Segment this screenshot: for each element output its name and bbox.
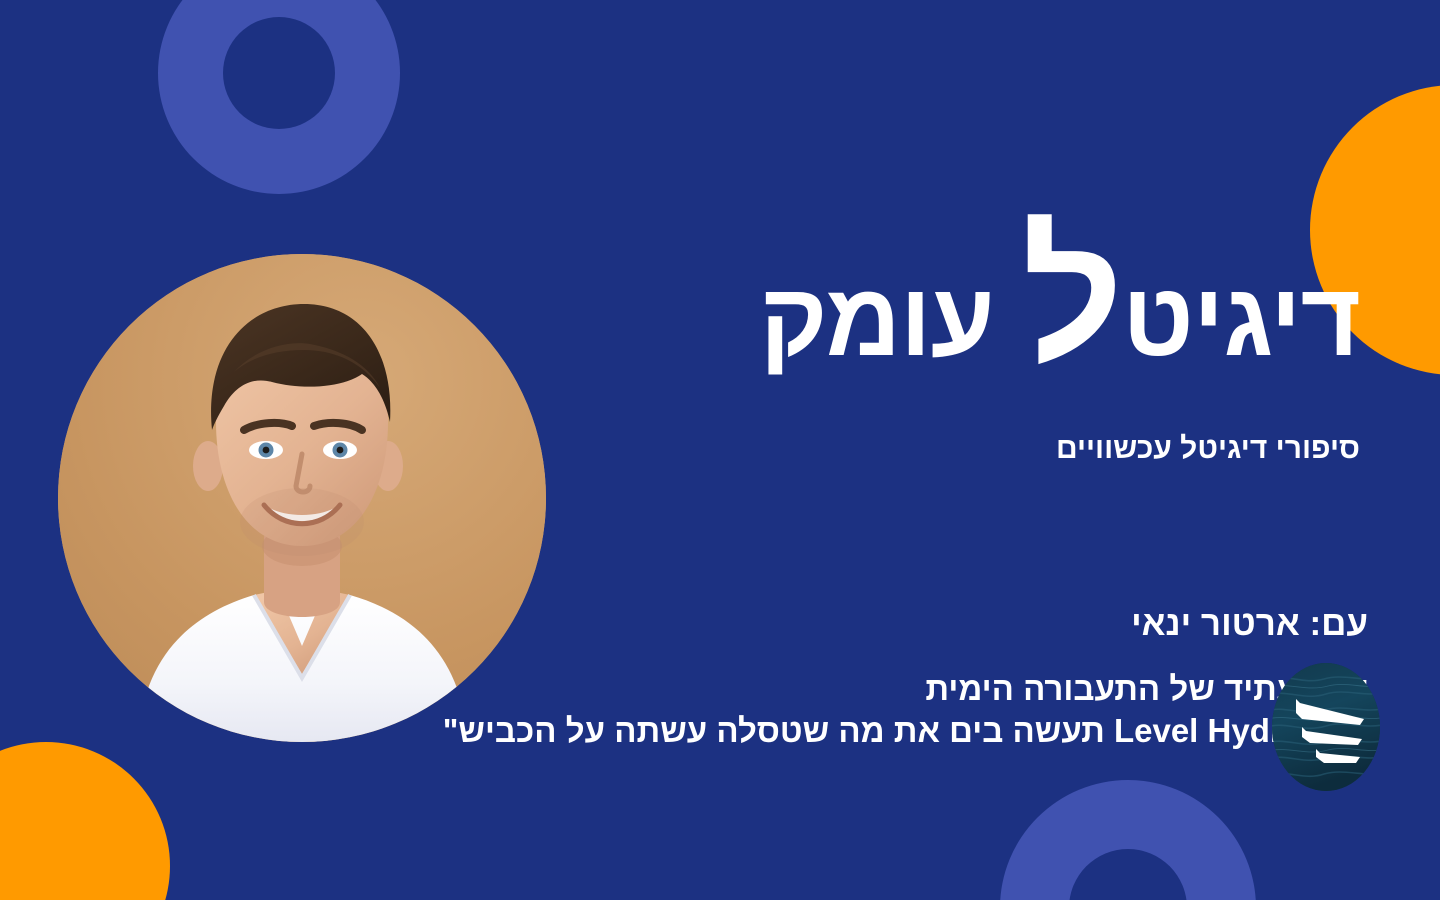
pupil-left	[263, 447, 270, 454]
title-prefix: דיגיט	[1122, 262, 1360, 378]
description-line-2: "Level Hydrofoil תעשה בים את מה שטסלה עש…	[443, 710, 1368, 752]
page-title: דיגיטל עומק	[760, 268, 1360, 372]
ring-top-left-decoration	[158, 0, 400, 194]
episode-description: על העתיד של התעבורה הימית "Level Hydrofo…	[443, 668, 1368, 752]
title-big-letter: ל	[1022, 198, 1123, 397]
title-suffix: עומק	[760, 262, 1022, 378]
subtitle: סיפורי דיגיטל עכשוויים	[1056, 432, 1360, 466]
orange-circle-bottom-left-decoration	[0, 742, 170, 900]
stubble	[240, 488, 364, 556]
pupil-right	[337, 447, 344, 454]
promo-card: דיגיטל עומק סיפורי דיגיטל עכשוויים עם: א…	[0, 0, 1440, 900]
hydrofoil-wings-icon	[1272, 663, 1380, 791]
title-block: דיגיטל עומק	[760, 268, 1360, 372]
description-line-1: על העתיד של התעבורה הימית	[443, 668, 1368, 710]
speaker-name: עם: ארטור ינאי	[1131, 604, 1368, 644]
ring-bottom-right-decoration	[1000, 780, 1256, 900]
brand-logo	[1272, 663, 1380, 791]
